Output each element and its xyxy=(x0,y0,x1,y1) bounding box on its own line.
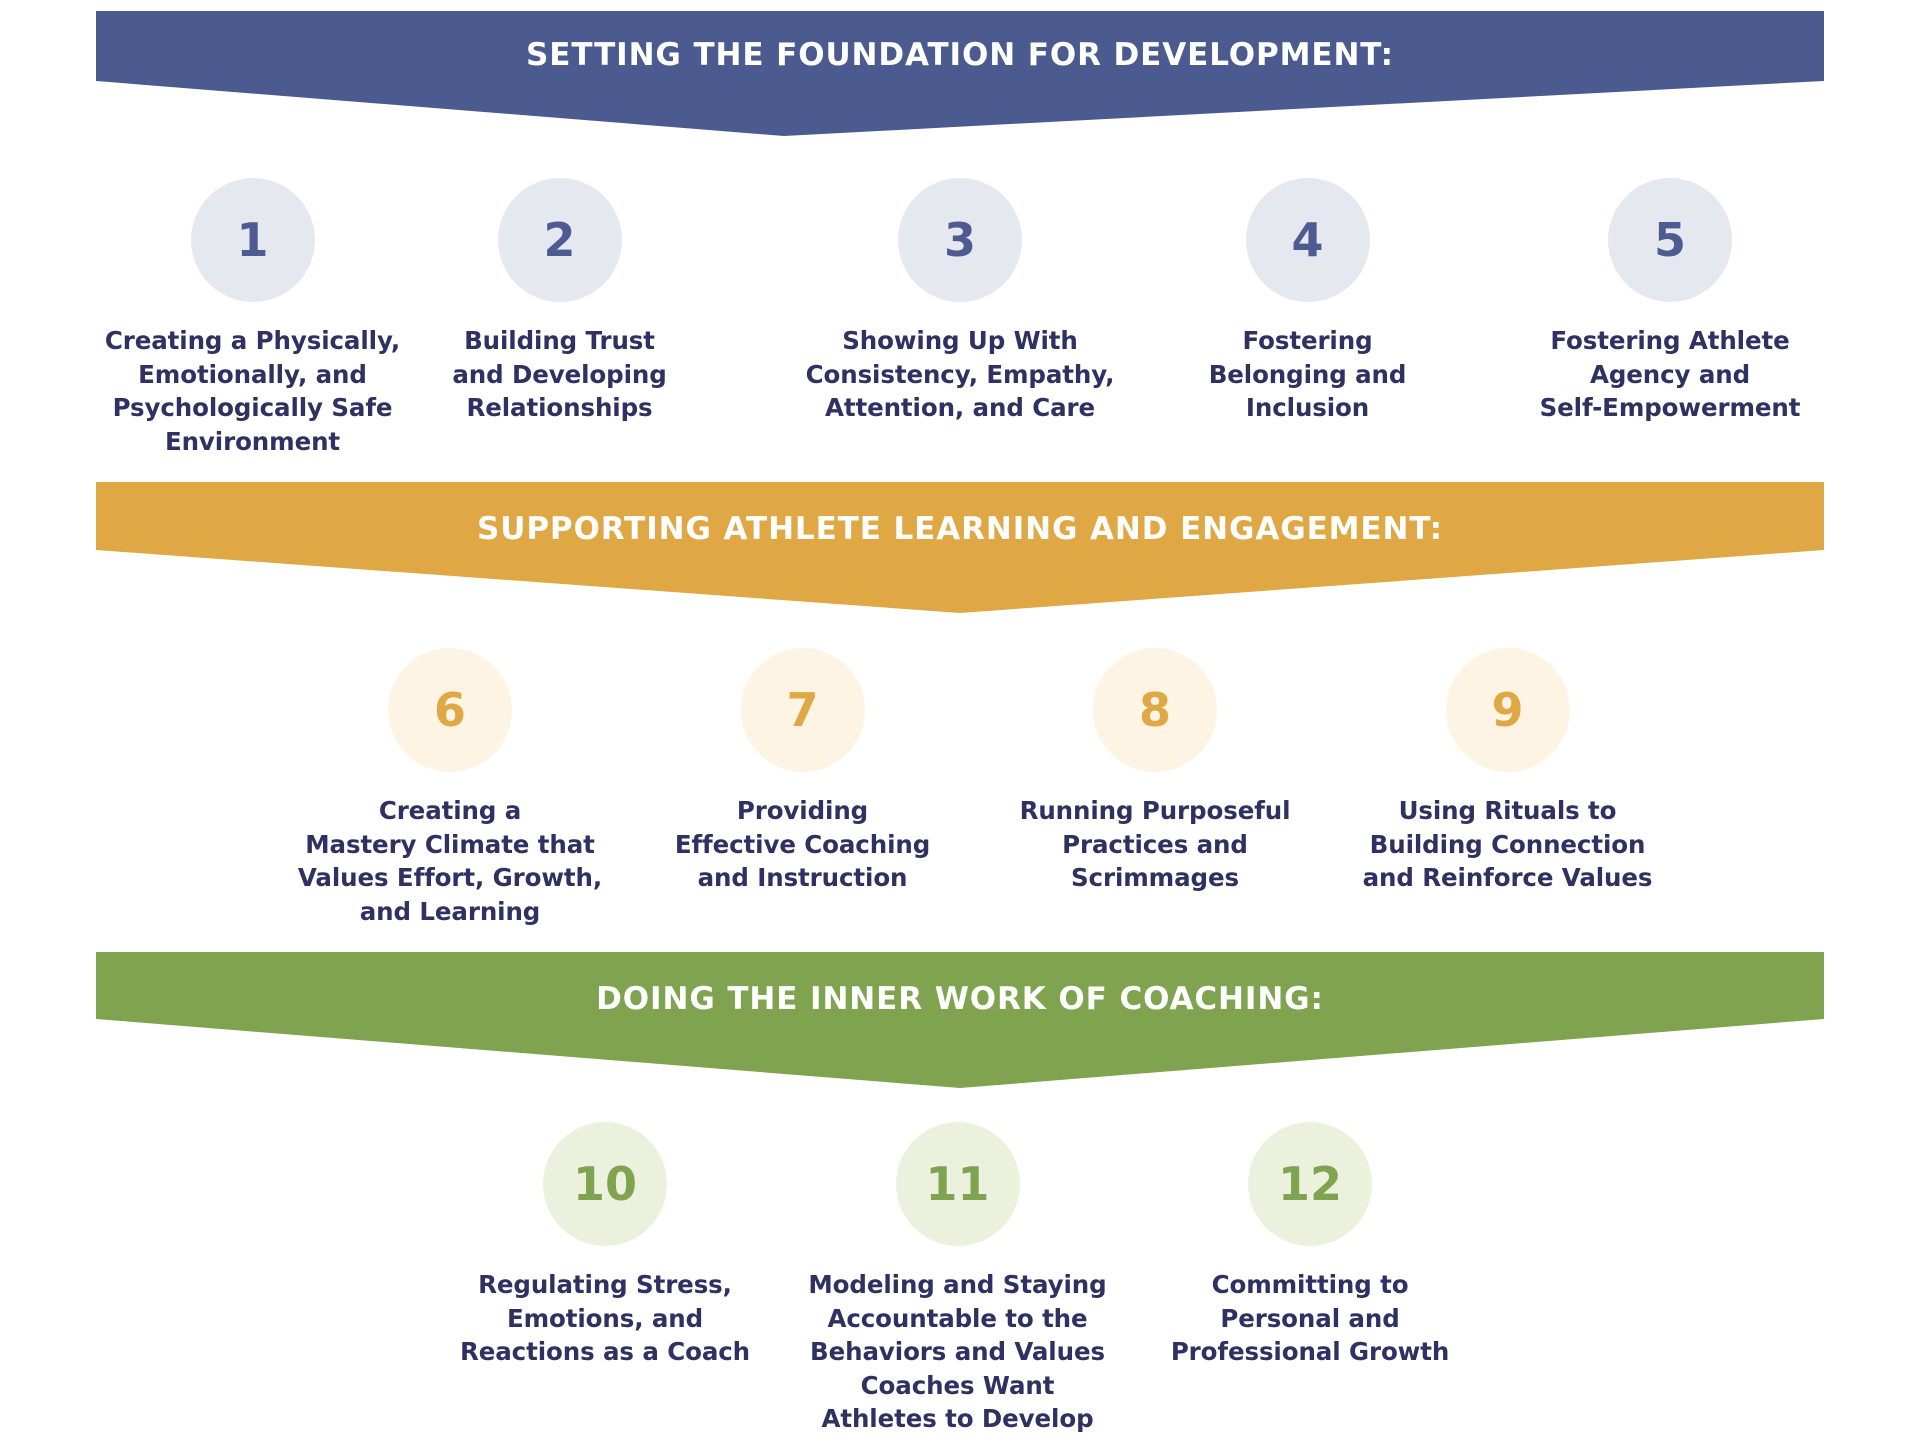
section-banner-learning: SUPPORTING ATHLETE LEARNING AND ENGAGEME… xyxy=(96,482,1824,613)
chevron-shape-orange xyxy=(96,482,1824,613)
step-label-9: Using Rituals to Building Connection and… xyxy=(1355,794,1660,895)
step-label-11: Modeling and Staying Accountable to the … xyxy=(805,1268,1110,1436)
section-banner-foundation: SETTING THE FOUNDATION FOR DEVELOPMENT: xyxy=(96,11,1824,136)
step-item-5: 5 Fostering Athlete Agency and Self-Empo… xyxy=(1520,178,1820,425)
step-number-badge-1: 1 xyxy=(191,178,315,302)
step-label-12: Committing to Personal and Professional … xyxy=(1165,1268,1455,1369)
section-title-learning: SUPPORTING ATHLETE LEARNING AND ENGAGEME… xyxy=(96,514,1824,545)
step-label-7: Providing Effective Coaching and Instruc… xyxy=(660,794,945,895)
step-item-9: 9 Using Rituals to Building Connection a… xyxy=(1355,648,1660,895)
step-item-12: 12 Committing to Personal and Profession… xyxy=(1165,1122,1455,1369)
step-item-8: 8 Running Purposeful Practices and Scrim… xyxy=(1010,648,1300,895)
step-number-badge-12: 12 xyxy=(1248,1122,1372,1246)
step-label-3: Showing Up With Consistency, Empathy, At… xyxy=(790,324,1130,425)
step-number-badge-8: 8 xyxy=(1093,648,1217,772)
step-item-11: 11 Modeling and Staying Accountable to t… xyxy=(805,1122,1110,1436)
section-title-inner-work: DOING THE INNER WORK OF COACHING: xyxy=(96,984,1824,1015)
step-number-badge-6: 6 xyxy=(388,648,512,772)
infographic-page: SETTING THE FOUNDATION FOR DEVELOPMENT: … xyxy=(0,0,1920,1448)
step-number-badge-11: 11 xyxy=(896,1122,1020,1246)
step-label-8: Running Purposeful Practices and Scrimma… xyxy=(1010,794,1300,895)
chevron-shape-blue xyxy=(96,11,1824,136)
step-label-4: Fostering Belonging and Inclusion xyxy=(1185,324,1430,425)
step-number-badge-5: 5 xyxy=(1608,178,1732,302)
step-number-badge-10: 10 xyxy=(543,1122,667,1246)
step-label-10: Regulating Stress, Emotions, and Reactio… xyxy=(455,1268,755,1369)
step-label-6: Creating a Mastery Climate that Values E… xyxy=(285,794,615,928)
step-item-10: 10 Regulating Stress, Emotions, and Reac… xyxy=(455,1122,755,1369)
step-number-badge-9: 9 xyxy=(1446,648,1570,772)
step-item-6: 6 Creating a Mastery Climate that Values… xyxy=(285,648,615,928)
section-banner-inner-work: DOING THE INNER WORK OF COACHING: xyxy=(96,952,1824,1088)
step-number-badge-4: 4 xyxy=(1246,178,1370,302)
chevron-shape-green xyxy=(96,952,1824,1088)
step-label-1: Creating a Physically, Emotionally, and … xyxy=(80,324,425,458)
section-title-foundation: SETTING THE FOUNDATION FOR DEVELOPMENT: xyxy=(96,40,1824,71)
step-item-3: 3 Showing Up With Consistency, Empathy, … xyxy=(790,178,1130,425)
step-number-badge-2: 2 xyxy=(498,178,622,302)
step-number-badge-7: 7 xyxy=(741,648,865,772)
step-item-7: 7 Providing Effective Coaching and Instr… xyxy=(660,648,945,895)
step-label-2: Building Trust and Developing Relationsh… xyxy=(412,324,707,425)
step-item-4: 4 Fostering Belonging and Inclusion xyxy=(1185,178,1430,425)
step-item-1: 1 Creating a Physically, Emotionally, an… xyxy=(80,178,425,458)
step-number-badge-3: 3 xyxy=(898,178,1022,302)
step-item-2: 2 Building Trust and Developing Relation… xyxy=(412,178,707,425)
step-label-5: Fostering Athlete Agency and Self-Empowe… xyxy=(1520,324,1820,425)
